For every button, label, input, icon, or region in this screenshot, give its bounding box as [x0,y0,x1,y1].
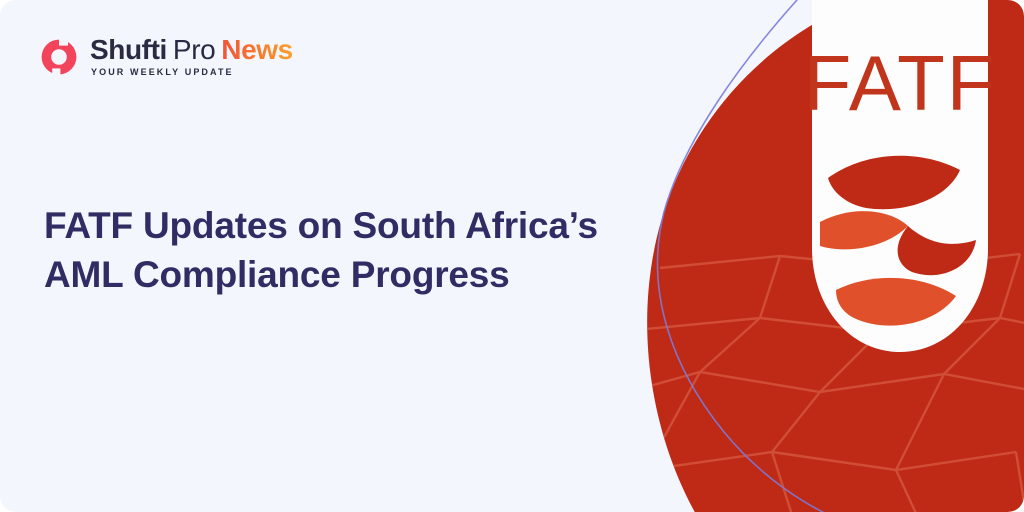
page-title: FATF Updates on South Africa’s AML Compl… [44,202,644,300]
fatf-emblem: FATF [804,0,997,352]
wordmark-news: News [221,36,293,64]
wordmark-shufti: Shufti [90,36,167,64]
brand-lockup[interactable]: Shufti Pro News YOUR WEEKLY UPDATE [40,36,293,77]
news-banner: FATF Shufti Pro News YOUR WEEKLY UPDATE … [0,0,1024,512]
headline-line-1: FATF Updates on South Africa’s [44,202,644,251]
wordmark-pro: Pro [173,36,215,64]
shufti-ring-icon [40,38,78,76]
headline-line-2: AML Compliance Progress [44,251,644,300]
emblem-title: FATF [804,39,997,127]
brand-tagline: YOUR WEEKLY UPDATE [91,67,293,77]
brand-wordmark: Shufti Pro News [90,36,293,64]
brand-text-block: Shufti Pro News YOUR WEEKLY UPDATE [90,36,293,77]
